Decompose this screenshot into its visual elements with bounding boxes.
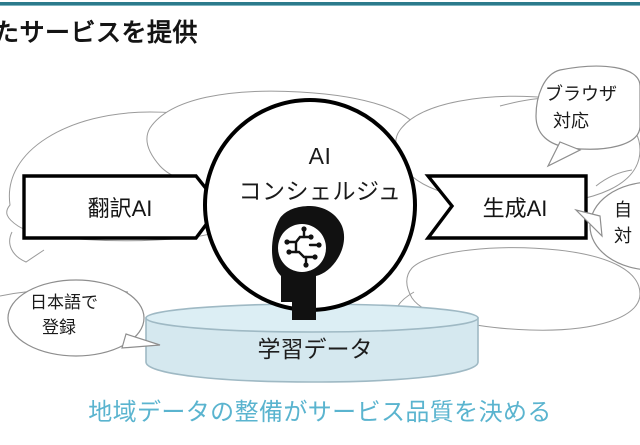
generative-ai-label: 生成AI <box>440 191 590 223</box>
translation-ai-label: 翻訳AI <box>30 191 210 223</box>
training-data-label: 学習データ <box>150 330 480 364</box>
page-title: たサービスを提供 <box>0 13 198 49</box>
slide-canvas: たサービスを提供 AI コンシェルジュ 翻訳AI 生成AI 学習データ 日本語で… <box>0 0 640 445</box>
japanese-registration-line2: 登録 <box>42 313 76 338</box>
summary-caption: 地域データの整備がサービス品質を決める <box>0 392 640 427</box>
auto-support-line1: 自 <box>614 196 632 222</box>
auto-support-line2: 対 <box>614 222 632 248</box>
ai-concierge-label-line1: AI <box>0 143 640 170</box>
browser-support-line2: 対応 <box>553 107 589 133</box>
browser-support-line1: ブラウザ <box>545 80 617 106</box>
japanese-registration-line1: 日本語で <box>30 288 98 313</box>
